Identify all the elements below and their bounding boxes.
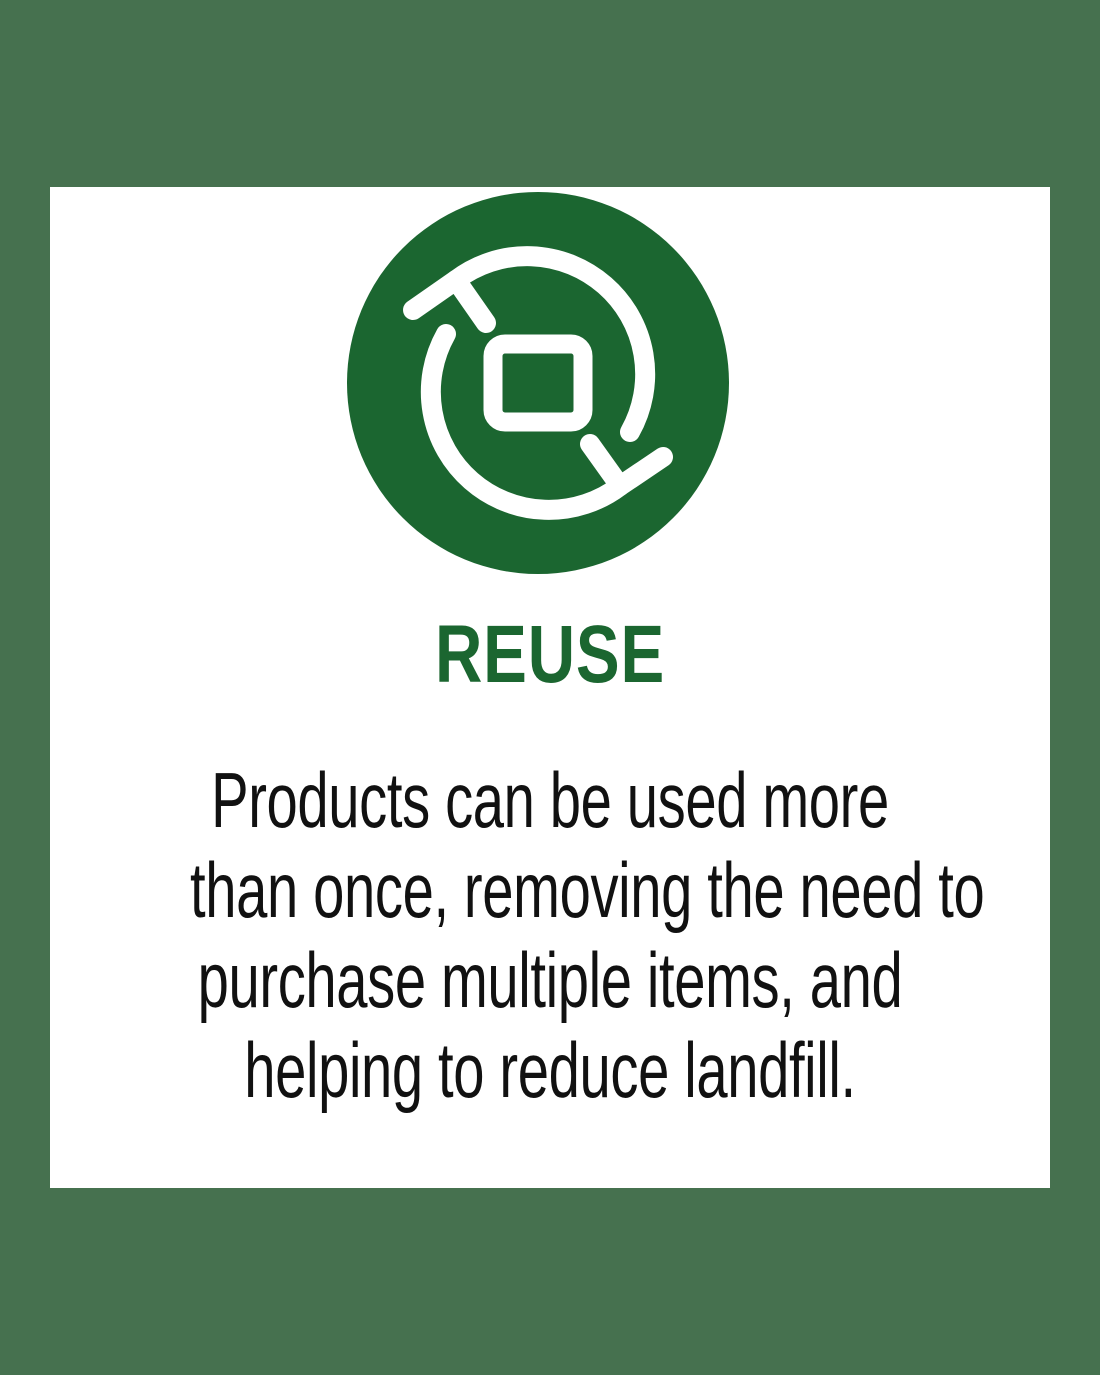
page-root: REUSE Products can be used more than onc… <box>0 0 1100 1375</box>
reuse-icon-container <box>347 192 729 574</box>
body-line-4: helping to reduce landfill. <box>190 1025 910 1115</box>
cycle-arrowhead-lower <box>590 444 663 486</box>
card-title: REUSE <box>150 612 950 698</box>
center-rectangle-icon <box>493 344 583 422</box>
cycle-arrowhead-upper <box>413 280 486 323</box>
reuse-cycle-icon <box>347 192 729 574</box>
body-line-3: purchase multiple items, and <box>190 935 910 1025</box>
card-body-text: Products can be used more than once, rem… <box>190 755 910 1115</box>
reuse-info-card: REUSE Products can be used more than onc… <box>50 187 1050 1188</box>
body-line-1: Products can be used more <box>190 755 910 845</box>
body-line-2: than once, removing the need to <box>190 845 910 935</box>
